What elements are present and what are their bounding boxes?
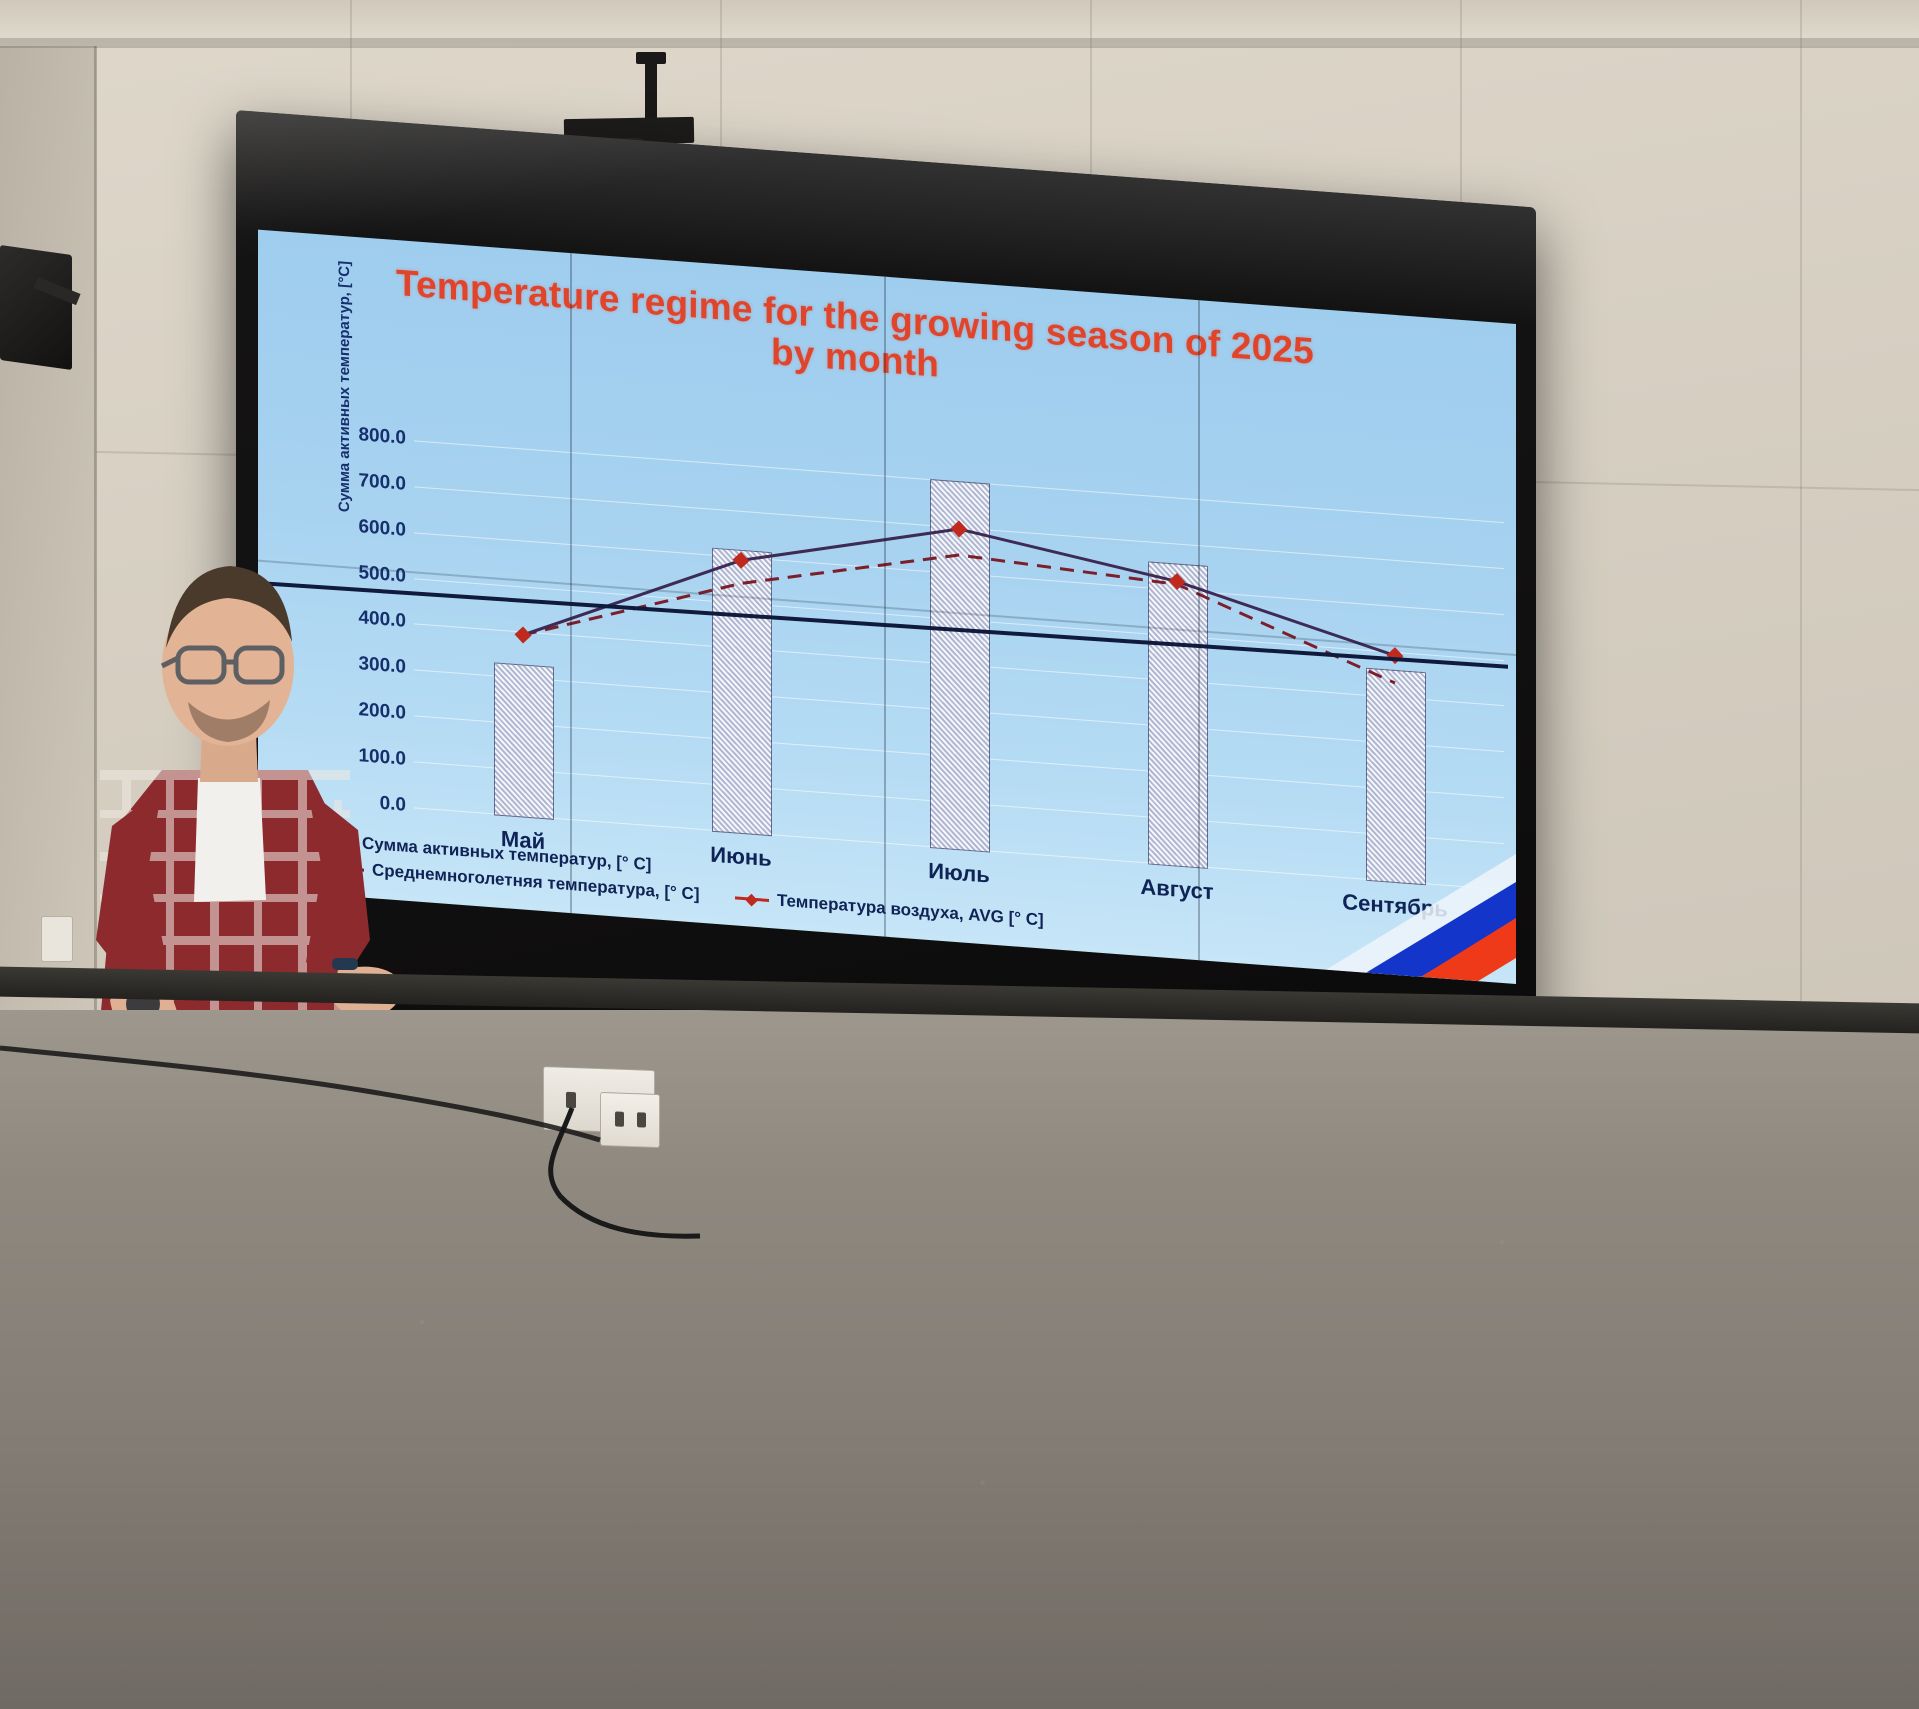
carpet-floor bbox=[0, 1010, 1919, 1709]
legend-item-2: Температура воздуха, AVG [° C] bbox=[735, 887, 1044, 930]
reference-line bbox=[258, 573, 1508, 677]
outlet-slot bbox=[615, 1111, 624, 1126]
display-screen[interactable]: Temperature regime for the growing seaso… bbox=[258, 230, 1516, 984]
floor-speck bbox=[420, 1320, 424, 1324]
wristband bbox=[332, 958, 358, 970]
wall-seam bbox=[1800, 0, 1802, 1020]
legend-label-2: Температура воздуха, AVG [° C] bbox=[777, 891, 1044, 931]
floor-speck bbox=[1500, 1240, 1504, 1244]
light-switch[interactable] bbox=[41, 916, 73, 962]
data-point-marker bbox=[515, 626, 532, 643]
line-diamond-icon bbox=[735, 896, 769, 902]
video-wall-display[interactable]: Temperature regime for the growing seaso… bbox=[236, 110, 1536, 1108]
outlet-slot bbox=[637, 1112, 646, 1127]
data-point-marker bbox=[951, 521, 968, 538]
wall-power-outlet-secondary[interactable] bbox=[600, 1092, 660, 1148]
ceiling-shadow-line bbox=[0, 38, 1919, 48]
wall-speaker bbox=[0, 245, 72, 370]
camera-pole-cap bbox=[636, 52, 666, 64]
data-point-marker bbox=[733, 552, 750, 569]
flag-decoration bbox=[1216, 802, 1516, 984]
camera-pole bbox=[645, 58, 657, 124]
floor-speck bbox=[980, 1480, 985, 1485]
undershirt bbox=[194, 778, 266, 902]
conference-room-scene: Temperature regime for the growing seaso… bbox=[0, 0, 1919, 1709]
outlet-slot bbox=[566, 1092, 576, 1108]
